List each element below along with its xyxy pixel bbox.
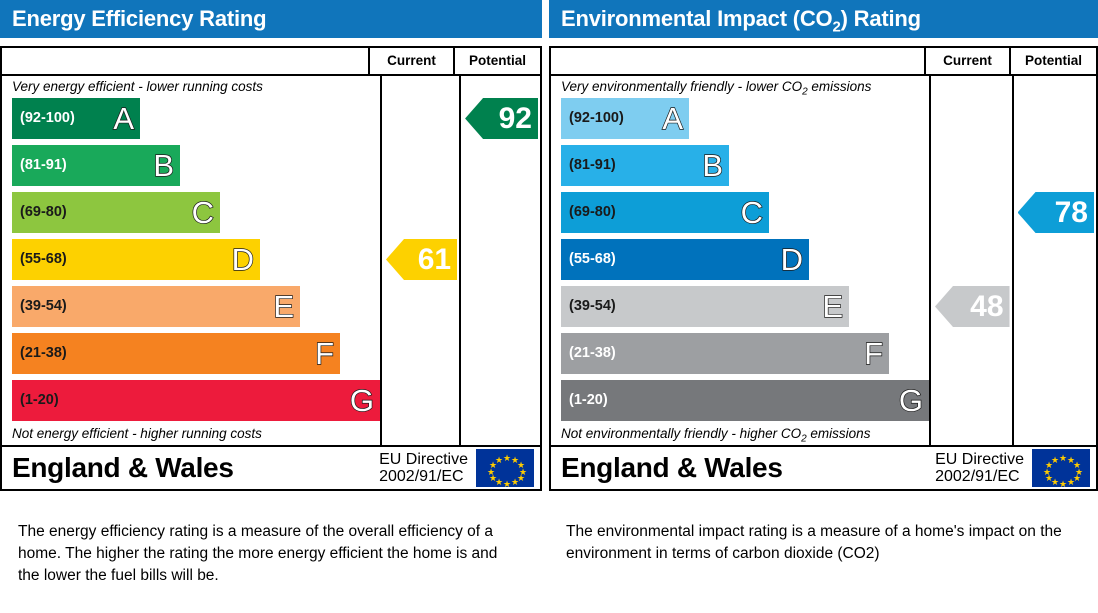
potential-rating-column: 92 (461, 76, 540, 445)
directive-line-2: 2002/91/EC (935, 468, 1024, 485)
chart-footer: England & Wales EU Directive 2002/91/EC … (551, 445, 1096, 489)
header-current: Current (926, 48, 1011, 74)
caption-top-pre: Very environmentally friendly - lower CO (561, 79, 802, 94)
caption-bottom: Not energy efficient - higher running co… (2, 423, 380, 445)
bands-column: Very environmentally friendly - lower CO… (551, 76, 931, 445)
band-range-g: (1-20) (561, 393, 608, 408)
current-rating-column: 48 (931, 76, 1014, 445)
band-bar-b: (81-91) B (561, 145, 729, 186)
band-range-g: (1-20) (12, 393, 59, 408)
band-bars: (92-100) A (81-91) B (69 (2, 98, 380, 421)
band-bar-f: (21-38) F (561, 333, 889, 374)
header-current: Current (370, 48, 455, 74)
potential-rating-column: 78 (1014, 76, 1096, 445)
band-range-c: (69-80) (12, 205, 67, 220)
caption-bottom-post: emissions (807, 426, 871, 441)
band-row-f: (21-38) F (561, 333, 929, 374)
band-bar-g: (1-20) G (561, 380, 929, 421)
band-letter-d: D (781, 243, 803, 274)
band-letter-a: A (113, 102, 134, 133)
directive-line-1: EU Directive (935, 451, 1024, 468)
band-range-b: (81-91) (561, 158, 616, 173)
title-subscript: 2 (832, 18, 840, 35)
energy-efficiency-note: The energy efficiency rating is a measur… (18, 521, 518, 587)
header-potential: Potential (455, 48, 540, 74)
band-range-a: (92-100) (12, 111, 75, 126)
band-range-c: (69-80) (561, 205, 616, 220)
band-bar-f: (21-38) F (12, 333, 340, 374)
band-range-b: (81-91) (12, 158, 67, 173)
band-row-c: (69-80) C (561, 192, 929, 233)
band-bar-c: (69-80) C (12, 192, 220, 233)
band-letter-b: B (153, 149, 174, 180)
band-range-d: (55-68) (12, 252, 67, 267)
band-bar-g: (1-20) G (12, 380, 380, 421)
caption-top: Very environmentally friendly - lower CO… (551, 76, 929, 98)
caption-bottom: Not environmentally friendly - higher CO… (551, 423, 929, 445)
column-header-row: Current Potential (551, 48, 1096, 76)
band-row-f: (21-38) F (12, 333, 380, 374)
energy-efficiency-chart: Current Potential Very energy efficient … (0, 46, 542, 491)
environmental-impact-chart: Current Potential Very environmentally f… (549, 46, 1098, 491)
potential-rating-badge: 78 (1018, 192, 1094, 233)
environmental-impact-note: The environmental impact rating is a mea… (566, 521, 1066, 565)
band-range-e: (39-54) (561, 299, 616, 314)
title-post: ) Rating (841, 6, 921, 31)
band-bar-e: (39-54) E (12, 286, 300, 327)
eu-flag-icon: ★ ★ ★ ★ ★ ★ ★ ★ ★ ★ ★ ★ (476, 449, 534, 487)
footer-country: England & Wales (12, 452, 379, 484)
chart-footer: England & Wales EU Directive 2002/91/EC … (2, 445, 540, 489)
potential-rating-badge: 92 (465, 98, 538, 139)
band-bar-a: (92-100) A (12, 98, 140, 139)
band-row-d: (55-68) D (12, 239, 380, 280)
current-rating-badge: 48 (935, 286, 1010, 327)
environmental-impact-title: Environmental Impact (CO2) Rating (549, 0, 1098, 38)
band-letter-e: E (273, 290, 294, 321)
band-letter-b: B (702, 149, 723, 180)
band-bar-c: (69-80) C (561, 192, 769, 233)
bands-column: Very energy efficient - lower running co… (2, 76, 382, 445)
band-bar-d: (55-68) D (12, 239, 260, 280)
band-range-a: (92-100) (561, 111, 624, 126)
band-letter-a: A (662, 102, 683, 133)
band-row-b: (81-91) B (561, 145, 929, 186)
band-row-c: (69-80) C (12, 192, 380, 233)
band-letter-g: G (350, 384, 374, 415)
energy-efficiency-panel: Energy Efficiency Rating Current Potenti… (0, 0, 542, 491)
band-row-g: (1-20) G (561, 380, 929, 421)
directive-line-2: 2002/91/EC (379, 468, 468, 485)
caption-top-post: emissions (808, 79, 872, 94)
environmental-impact-panel: Environmental Impact (CO2) Rating Curren… (549, 0, 1098, 491)
band-row-g: (1-20) G (12, 380, 380, 421)
band-bar-d: (55-68) D (561, 239, 809, 280)
eu-flag-icon: ★ ★ ★ ★ ★ ★ ★ ★ ★ ★ ★ ★ (1032, 449, 1090, 487)
band-bar-a: (92-100) A (561, 98, 689, 139)
header-spacer (2, 48, 370, 74)
band-letter-d: D (232, 243, 254, 274)
title-pre: Environmental Impact (CO (561, 6, 832, 31)
band-letter-c: C (192, 196, 214, 227)
chart-body: Very energy efficient - lower running co… (2, 76, 540, 445)
band-letter-g: G (899, 384, 923, 415)
header-spacer (551, 48, 926, 74)
band-range-f: (21-38) (561, 346, 616, 361)
band-row-e: (39-54) E (12, 286, 380, 327)
band-bars: (92-100) A (81-91) B (69 (551, 98, 929, 421)
chart-body: Very environmentally friendly - lower CO… (551, 76, 1096, 445)
band-bar-b: (81-91) B (12, 145, 180, 186)
caption-bottom-pre: Not environmentally friendly - higher CO (561, 426, 801, 441)
caption-top: Very energy efficient - lower running co… (2, 76, 380, 98)
band-letter-e: E (822, 290, 843, 321)
column-header-row: Current Potential (2, 48, 540, 76)
band-row-a: (92-100) A (12, 98, 380, 139)
band-row-a: (92-100) A (561, 98, 929, 139)
footer-directive: EU Directive 2002/91/EC (379, 451, 476, 485)
epc-certificate-graphs: Energy Efficiency Rating Current Potenti… (0, 0, 1098, 613)
footer-directive: EU Directive 2002/91/EC (935, 451, 1032, 485)
current-rating-badge: 61 (386, 239, 457, 280)
band-letter-f: F (315, 337, 334, 368)
band-range-d: (55-68) (561, 252, 616, 267)
footer-country: England & Wales (561, 452, 935, 484)
header-potential: Potential (1011, 48, 1096, 74)
band-letter-c: C (741, 196, 763, 227)
current-rating-column: 61 (382, 76, 461, 445)
energy-efficiency-title: Energy Efficiency Rating (0, 0, 542, 38)
band-row-e: (39-54) E (561, 286, 929, 327)
band-range-e: (39-54) (12, 299, 67, 314)
band-row-b: (81-91) B (12, 145, 380, 186)
band-row-d: (55-68) D (561, 239, 929, 280)
band-bar-e: (39-54) E (561, 286, 849, 327)
band-letter-f: F (864, 337, 883, 368)
band-range-f: (21-38) (12, 346, 67, 361)
directive-line-1: EU Directive (379, 451, 468, 468)
